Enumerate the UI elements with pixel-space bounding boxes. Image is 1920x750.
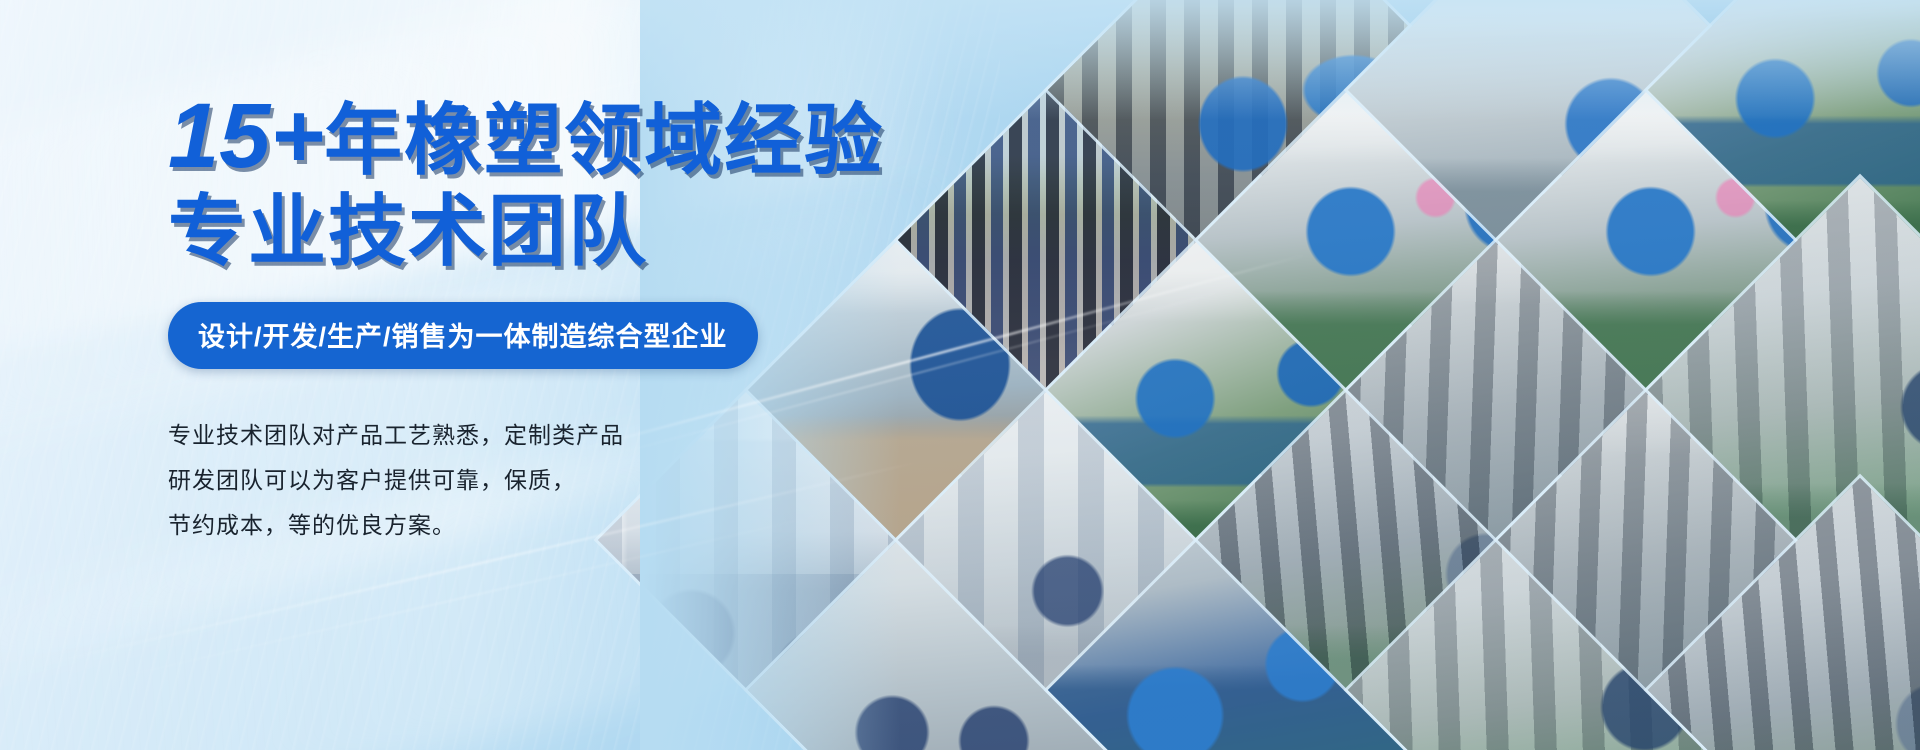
headline-line-1: 15+年橡塑领域经验 xyxy=(168,88,908,185)
headline-years-number: 15+ xyxy=(168,85,324,187)
tagline-pill-button[interactable]: 设计/开发/生产/销售为一体制造综合型企业 xyxy=(168,302,758,369)
headline-line-2: 专业技术团队 xyxy=(168,191,908,273)
description-line-2: 研发团队可以为客户提供可靠，保质， xyxy=(168,458,908,503)
description-paragraph: 专业技术团队对产品工艺熟悉，定制类产品 研发团队可以为客户提供可靠，保质， 节约… xyxy=(168,413,908,548)
company-hero-banner: 15+年橡塑领域经验 专业技术团队 设计/开发/生产/销售为一体制造综合型企业 … xyxy=(0,0,1920,750)
description-line-1: 专业技术团队对产品工艺熟悉，定制类产品 xyxy=(168,413,908,458)
hero-text-block: 15+年橡塑领域经验 专业技术团队 设计/开发/生产/销售为一体制造综合型企业 … xyxy=(168,88,908,548)
headline-line-1-text: 年橡塑领域经验 xyxy=(324,96,884,184)
description-line-3: 节约成本，等的优良方案。 xyxy=(168,503,908,548)
